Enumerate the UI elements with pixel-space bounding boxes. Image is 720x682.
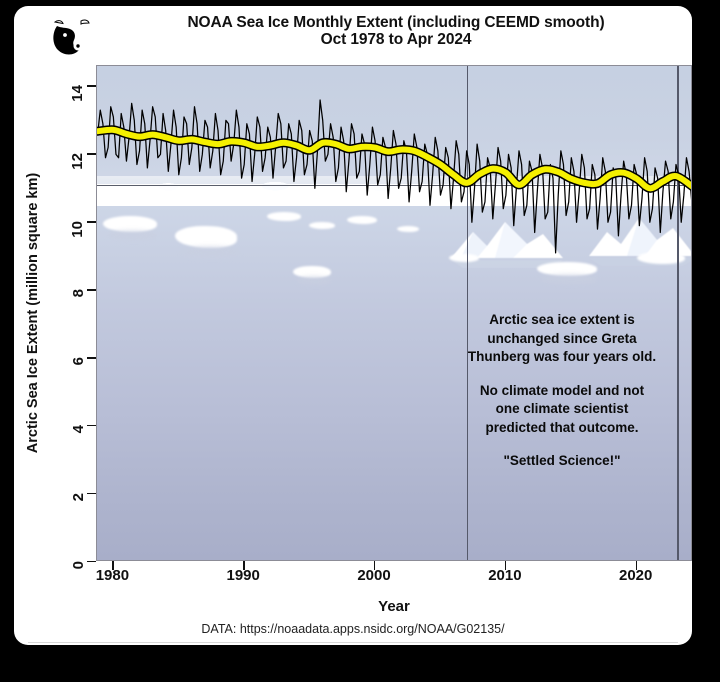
y-tick-label: 8 xyxy=(70,289,87,297)
y-tick xyxy=(87,425,96,426)
chart-title-line1: NOAA Sea Ice Monthly Extent (including C… xyxy=(187,14,604,31)
x-tick-label: 2020 xyxy=(619,567,652,584)
annotation-paragraph-1: Arctic sea ice extent is unchanged since… xyxy=(466,311,658,367)
x-tick-label: 1980 xyxy=(96,567,129,584)
annotation-paragraph-3: "Settled Science!" xyxy=(466,452,658,471)
plot-area: 02468101214 19801990200020102020 Arctic … xyxy=(96,65,692,561)
y-tick-label: 10 xyxy=(70,221,87,238)
y-axis-title: Arctic Sea Ice Extent (million square km… xyxy=(22,65,44,561)
y-tick-label: 6 xyxy=(70,357,87,365)
y-tick-label: 2 xyxy=(70,493,87,501)
y-tick xyxy=(87,85,96,86)
y-tick-label: 12 xyxy=(70,153,87,170)
polar-bear-yin-yang-icon xyxy=(48,18,98,62)
figure-card: NOAA Sea Ice Monthly Extent (including C… xyxy=(14,6,692,645)
x-tick-label: 1990 xyxy=(227,567,260,584)
y-tick-label: 0 xyxy=(70,561,87,569)
x-axis-title: Year xyxy=(96,598,692,615)
footer-divider xyxy=(28,642,678,643)
y-tick xyxy=(87,153,96,154)
data-source-footer: DATA: https://noaadata.apps.nsidc.org/NO… xyxy=(14,622,692,636)
chart-title: NOAA Sea Ice Monthly Extent (including C… xyxy=(96,14,692,48)
y-tick xyxy=(87,357,96,358)
chart-title-line2: Oct 1978 to Apr 2024 xyxy=(96,31,692,48)
x-tick-label: 2010 xyxy=(488,567,521,584)
annotation-text: Arctic sea ice extent is unchanged since… xyxy=(466,311,658,471)
y-tick xyxy=(87,289,96,290)
x-tick-label: 2000 xyxy=(357,567,390,584)
y-tick-label: 14 xyxy=(70,85,87,102)
y-tick xyxy=(87,221,96,222)
annotation-paragraph-2: No climate model and not one climate sci… xyxy=(466,382,658,438)
y-tick xyxy=(87,493,96,494)
y-tick xyxy=(87,561,96,562)
y-tick-label: 4 xyxy=(70,425,87,433)
